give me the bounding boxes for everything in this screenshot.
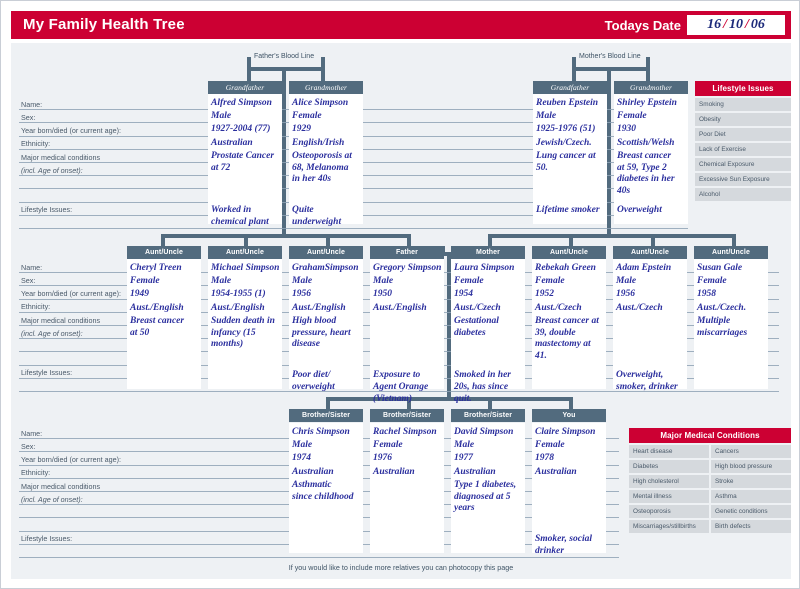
lifestyle-legend-item-1: Obesity bbox=[695, 113, 791, 126]
node-sibling-2[interactable]: Brother/Sister bbox=[451, 409, 525, 422]
field-lifestyle-grandparent-1[interactable]: Quite underweight bbox=[292, 205, 363, 229]
field-sex-grandparent-3[interactable]: Female bbox=[617, 111, 688, 123]
field-name-grandparent-3[interactable]: Shirley Epstein bbox=[617, 98, 688, 110]
conditions-legend-item-0-0: Heart disease bbox=[629, 445, 709, 458]
row-label-2: Year born/died (or current age): bbox=[21, 126, 121, 135]
row-label-4: Major medical conditions bbox=[21, 316, 100, 325]
conditions-legend-item-0-1: Cancers bbox=[711, 445, 791, 458]
date-month: 10 bbox=[729, 17, 743, 33]
row-label-4: Major medical conditions bbox=[21, 153, 100, 162]
title-bar: My Family Health Tree Todays Date 16 / 1… bbox=[11, 11, 791, 39]
field-name-grandparent-1[interactable]: Alice Simpson bbox=[292, 98, 363, 110]
field-name-grandparent-0[interactable]: Alfred Simpson bbox=[211, 98, 282, 110]
connector-drop-au1 bbox=[161, 234, 165, 246]
field-year-parentrow-2[interactable]: 1956 bbox=[292, 289, 363, 301]
todays-date-field[interactable]: 16 / 10 / 06 bbox=[687, 15, 785, 35]
field-name-sibling-1[interactable]: Rachel Simpson bbox=[373, 427, 444, 439]
connector-father-sibling-bar-2 bbox=[244, 234, 330, 238]
field-lifestyle-parentrow-3[interactable]: Exposure to Agent Orange (Vietnam) bbox=[373, 370, 444, 405]
connector-mother-sibling-bar-3 bbox=[651, 234, 736, 238]
field-name-parentrow-3[interactable]: Gregory Simpson bbox=[373, 263, 444, 275]
conditions-legend-row: DiabetesHigh blood pressure bbox=[629, 460, 791, 473]
row-label-3: Ethnicity: bbox=[21, 302, 50, 311]
field-name-sibling-2[interactable]: David Simpson bbox=[454, 427, 525, 439]
field-conditions-parentrow-2[interactable]: High blood pressure, heart disease bbox=[292, 316, 363, 351]
lifestyle-legend-items: SmokingObesityPoor DietLack of ExerciseC… bbox=[695, 98, 791, 201]
conditions-legend-row: High cholesterolStroke bbox=[629, 475, 791, 488]
field-conditions-grandparent-2[interactable]: Lung cancer at 50. bbox=[536, 151, 607, 175]
connector-mother-spine bbox=[607, 67, 611, 234]
field-year-sibling-0[interactable]: 1974 bbox=[292, 453, 363, 465]
node-sibling-3[interactable]: You bbox=[532, 409, 606, 422]
node-parentrow-2[interactable]: Aunt/Uncle bbox=[289, 246, 363, 259]
major-medical-conditions-legend: Major Medical Conditions Heart diseaseCa… bbox=[629, 428, 791, 533]
field-year-parentrow-4[interactable]: 1954 bbox=[454, 289, 525, 301]
field-ethnicity-parentrow-2[interactable]: Aust./English bbox=[292, 303, 363, 315]
connector-mother-drop-right bbox=[646, 67, 650, 81]
connector-father-sibling-bar-3 bbox=[326, 234, 411, 238]
field-year-sibling-2[interactable]: 1977 bbox=[454, 453, 525, 465]
connector-father-drop-right bbox=[321, 67, 325, 81]
row-label-0: Name: bbox=[21, 263, 42, 272]
node-parentrow-6[interactable]: Aunt/Uncle bbox=[613, 246, 687, 259]
row-label-1: Sex: bbox=[21, 276, 35, 285]
field-lifestyle-parentrow-4[interactable]: Smoked in her 20s, has since quit. bbox=[454, 370, 525, 405]
row-label-3: Ethnicity: bbox=[21, 468, 50, 477]
conditions-legend-item-5-0: Miscarriages/stillbirths bbox=[629, 520, 709, 533]
conditions-legend-item-2-1: Stroke bbox=[711, 475, 791, 488]
field-conditions-sibling-0[interactable]: Asthmatic since childhood bbox=[292, 480, 363, 504]
field-year-grandparent-1[interactable]: 1929 bbox=[292, 124, 363, 136]
field-lifestyle-grandparent-0[interactable]: Worked in chemical plant bbox=[211, 205, 282, 229]
field-name-parentrow-7[interactable]: Susan Gale bbox=[697, 263, 768, 275]
field-year-sibling-1[interactable]: 1976 bbox=[373, 453, 444, 465]
date-year: 06 bbox=[751, 17, 765, 33]
connector-mother-drop-left bbox=[572, 67, 576, 81]
date-separator-2: / bbox=[745, 17, 749, 33]
field-name-parentrow-1[interactable]: Michael Simpson bbox=[211, 263, 282, 275]
field-sex-parentrow-6[interactable]: Male bbox=[616, 276, 687, 288]
field-sex-sibling-2[interactable]: Male bbox=[454, 440, 525, 452]
connector-drop-you bbox=[569, 397, 573, 409]
conditions-legend-row: Mental illnessAsthma bbox=[629, 490, 791, 503]
conditions-legend-items: Heart diseaseCancersDiabetesHigh blood p… bbox=[629, 445, 791, 533]
conditions-legend-item-3-0: Mental illness bbox=[629, 490, 709, 503]
conditions-legend-item-5-1: Birth defects bbox=[711, 520, 791, 533]
row-label-lifestyle: Lifestyle Issues: bbox=[21, 368, 72, 377]
conditions-legend-item-4-1: Genetic conditions bbox=[711, 505, 791, 518]
node-parentrow-5[interactable]: Aunt/Uncle bbox=[532, 246, 606, 259]
page-title: My Family Health Tree bbox=[23, 16, 185, 33]
connector-mother-sibling-bar-2 bbox=[569, 234, 655, 238]
row-label-2: Year born/died (or current age): bbox=[21, 289, 121, 298]
field-year-parentrow-0[interactable]: 1949 bbox=[130, 289, 201, 301]
node-grandmother-maternal[interactable]: Grandmother bbox=[614, 81, 688, 94]
field-lifestyle-parentrow-2[interactable]: Poor diet/ overweight bbox=[292, 370, 363, 394]
lifestyle-legend-item-4: Chemical Exposure bbox=[695, 158, 791, 171]
field-sex-parentrow-2[interactable]: Male bbox=[292, 276, 363, 288]
lifestyle-legend-title: Lifestyle Issues bbox=[695, 81, 791, 96]
field-ethnicity-sibling-2[interactable]: Australian bbox=[454, 467, 525, 479]
field-sex-parentrow-5[interactable]: Female bbox=[535, 276, 606, 288]
field-lifestyle-sibling-3[interactable]: Smoker, social drinker bbox=[535, 534, 606, 558]
node-grandfather-paternal[interactable]: Grandfather bbox=[208, 81, 282, 94]
node-grandfather-maternal[interactable]: Grandfather bbox=[533, 81, 607, 94]
field-year-parentrow-3[interactable]: 1950 bbox=[373, 289, 444, 301]
row-label-0: Name: bbox=[21, 429, 42, 438]
row-label-5: (incl. Age of onset): bbox=[21, 495, 83, 504]
field-conditions-parentrow-5[interactable]: Breast cancer at 39, double mastectomy a… bbox=[535, 316, 606, 363]
field-conditions-parentrow-0[interactable]: Breast cancer at 50 bbox=[130, 316, 201, 340]
field-conditions-grandparent-1[interactable]: Osteoporosis at 68, Melanoma in her 40s bbox=[292, 151, 363, 186]
field-lifestyle-grandparent-2[interactable]: Lifetime smoker bbox=[536, 205, 607, 217]
conditions-legend-item-1-1: High blood pressure bbox=[711, 460, 791, 473]
field-year-grandparent-2[interactable]: 1925-1976 (51) bbox=[536, 124, 607, 136]
field-ethnicity-grandparent-1[interactable]: English/Irish bbox=[292, 138, 363, 150]
field-sex-parentrow-3[interactable]: Male bbox=[373, 276, 444, 288]
conditions-legend-title: Major Medical Conditions bbox=[629, 428, 791, 443]
field-ethnicity-grandparent-3[interactable]: Scottish/Welsh bbox=[617, 138, 688, 150]
node-parentrow-7[interactable]: Aunt/Uncle bbox=[694, 246, 768, 259]
field-conditions-parentrow-4[interactable]: Gestational diabetes bbox=[454, 316, 525, 340]
row-label-lifestyle: Lifestyle Issues: bbox=[21, 205, 72, 214]
lifestyle-issues-legend: Lifestyle Issues SmokingObesityPoor Diet… bbox=[695, 81, 791, 201]
row-label-1: Sex: bbox=[21, 442, 35, 451]
lifestyle-legend-item-0: Smoking bbox=[695, 98, 791, 111]
fathers-blood-line-label: Father's Blood Line bbox=[254, 53, 314, 60]
field-sex-sibling-0[interactable]: Male bbox=[292, 440, 363, 452]
node-sibling-1[interactable]: Brother/Sister bbox=[370, 409, 444, 422]
field-ethnicity-sibling-0[interactable]: Australian bbox=[292, 467, 363, 479]
node-sibling-0[interactable]: Brother/Sister bbox=[289, 409, 363, 422]
field-sex-parentrow-0[interactable]: Female bbox=[130, 276, 201, 288]
field-year-grandparent-3[interactable]: 1930 bbox=[617, 124, 688, 136]
footer-note: If you would like to include more relati… bbox=[1, 563, 800, 572]
lifestyle-legend-item-6: Alcohol bbox=[695, 188, 791, 201]
field-lifestyle-parentrow-6[interactable]: Overweight, smoker, drinker bbox=[616, 370, 687, 394]
connector-drop-mother bbox=[488, 234, 492, 246]
field-sex-parentrow-4[interactable]: Female bbox=[454, 276, 525, 288]
field-ethnicity-sibling-3[interactable]: Australian bbox=[535, 467, 606, 479]
conditions-legend-row: Heart diseaseCancers bbox=[629, 445, 791, 458]
field-year-parentrow-6[interactable]: 1956 bbox=[616, 289, 687, 301]
field-name-parentrow-2[interactable]: GrahamSimpson bbox=[292, 263, 363, 275]
field-sex-sibling-3[interactable]: Female bbox=[535, 440, 606, 452]
field-ethnicity-parentrow-4[interactable]: Aust./Czech bbox=[454, 303, 525, 315]
field-conditions-sibling-2[interactable]: Type 1 diabetes, diagnosed at 5 years bbox=[454, 480, 525, 515]
field-ethnicity-parentrow-6[interactable]: Aust./Czech bbox=[616, 303, 687, 315]
field-conditions-grandparent-0[interactable]: Prostate Cancer at 72 bbox=[211, 151, 282, 175]
conditions-legend-item-4-0: Osteoporosis bbox=[629, 505, 709, 518]
connector-drop-sib1 bbox=[326, 397, 330, 409]
todays-date-label: Todays Date bbox=[605, 18, 681, 33]
field-ethnicity-grandparent-2[interactable]: Jewish/Czech. bbox=[536, 138, 607, 150]
node-parentrow-4[interactable]: Mother bbox=[451, 246, 525, 259]
row-label-0: Name: bbox=[21, 100, 42, 109]
connector-father-bar bbox=[247, 67, 325, 71]
node-parentrow-3[interactable]: Father bbox=[370, 246, 444, 259]
row-label-1: Sex: bbox=[21, 113, 35, 122]
field-sex-parentrow-1[interactable]: Male bbox=[211, 276, 282, 288]
date-separator-1: / bbox=[723, 17, 727, 33]
field-conditions-parentrow-7[interactable]: Multiple miscarriages bbox=[697, 316, 768, 340]
conditions-legend-item-3-1: Asthma bbox=[711, 490, 791, 503]
field-lifestyle-grandparent-3[interactable]: Overweight bbox=[617, 205, 688, 217]
connector-father-drop-left bbox=[247, 67, 251, 81]
connector-mother-bar bbox=[572, 67, 650, 71]
field-year-parentrow-1[interactable]: 1954-1955 (1) bbox=[211, 289, 282, 301]
date-day: 16 bbox=[707, 17, 721, 33]
field-ethnicity-grandparent-0[interactable]: Australian bbox=[211, 138, 282, 150]
connector-father-spine bbox=[282, 67, 286, 234]
field-name-grandparent-2[interactable]: Reuben Epstein bbox=[536, 98, 607, 110]
field-name-parentrow-0[interactable]: Cheryl Treen bbox=[130, 263, 201, 275]
field-conditions-parentrow-1[interactable]: Sudden death in infancy (15 months) bbox=[211, 316, 282, 351]
field-ethnicity-parentrow-5[interactable]: Aust./Czech bbox=[535, 303, 606, 315]
row-label-lifestyle: Lifestyle Issues: bbox=[21, 534, 72, 543]
lifestyle-legend-item-3: Lack of Exercise bbox=[695, 143, 791, 156]
field-year-sibling-3[interactable]: 1978 bbox=[535, 453, 606, 465]
field-ethnicity-sibling-1[interactable]: Australian bbox=[373, 467, 444, 479]
row-label-2: Year born/died (or current age): bbox=[21, 455, 121, 464]
row-label-4: Major medical conditions bbox=[21, 482, 100, 491]
field-sex-grandparent-1[interactable]: Female bbox=[292, 111, 363, 123]
mothers-blood-line-label: Mother's Blood Line bbox=[579, 53, 641, 60]
field-sex-sibling-1[interactable]: Female bbox=[373, 440, 444, 452]
field-sex-grandparent-0[interactable]: Male bbox=[211, 111, 282, 123]
conditions-legend-item-2-0: High cholesterol bbox=[629, 475, 709, 488]
field-year-grandparent-0[interactable]: 1927-2004 (77) bbox=[211, 124, 282, 136]
field-ethnicity-parentrow-7[interactable]: Aust./Czech. bbox=[697, 303, 768, 315]
field-name-sibling-3[interactable]: Claire Simpson bbox=[535, 427, 606, 439]
field-year-parentrow-7[interactable]: 1958 bbox=[697, 289, 768, 301]
field-ethnicity-parentrow-3[interactable]: Aust./English bbox=[373, 303, 444, 315]
node-parentrow-0[interactable]: Aunt/Uncle bbox=[127, 246, 201, 259]
conditions-legend-row: Miscarriages/stillbirthsBirth defects bbox=[629, 520, 791, 533]
field-name-parentrow-6[interactable]: Adam Epstein bbox=[616, 263, 687, 275]
field-ethnicity-parentrow-0[interactable]: Aust./English bbox=[130, 303, 201, 315]
row-label-3: Ethnicity: bbox=[21, 139, 50, 148]
lifestyle-legend-item-5: Excessive Sun Exposure bbox=[695, 173, 791, 186]
field-name-sibling-0[interactable]: Chris Simpson bbox=[292, 427, 363, 439]
field-ethnicity-parentrow-1[interactable]: Aust./English bbox=[211, 303, 282, 315]
row-divider bbox=[19, 557, 619, 558]
conditions-legend-item-1-0: Diabetes bbox=[629, 460, 709, 473]
node-parentrow-1[interactable]: Aunt/Uncle bbox=[208, 246, 282, 259]
row-label-5: (incl. Age of onset): bbox=[21, 166, 83, 175]
row-label-5: (incl. Age of onset): bbox=[21, 329, 83, 338]
page-root: My Family Health Tree Todays Date 16 / 1… bbox=[0, 0, 800, 589]
field-year-parentrow-5[interactable]: 1952 bbox=[535, 289, 606, 301]
field-conditions-grandparent-3[interactable]: Breast cancer at 59, Type 2 diabetes in … bbox=[617, 151, 688, 198]
field-sex-grandparent-2[interactable]: Male bbox=[536, 111, 607, 123]
node-grandmother-paternal[interactable]: Grandmother bbox=[289, 81, 363, 94]
field-name-parentrow-4[interactable]: Laura Simpson bbox=[454, 263, 525, 275]
field-name-parentrow-5[interactable]: Rebekah Green bbox=[535, 263, 606, 275]
field-sex-parentrow-7[interactable]: Female bbox=[697, 276, 768, 288]
lifestyle-legend-item-2: Poor Diet bbox=[695, 128, 791, 141]
conditions-legend-row: OsteoporosisGenetic conditions bbox=[629, 505, 791, 518]
